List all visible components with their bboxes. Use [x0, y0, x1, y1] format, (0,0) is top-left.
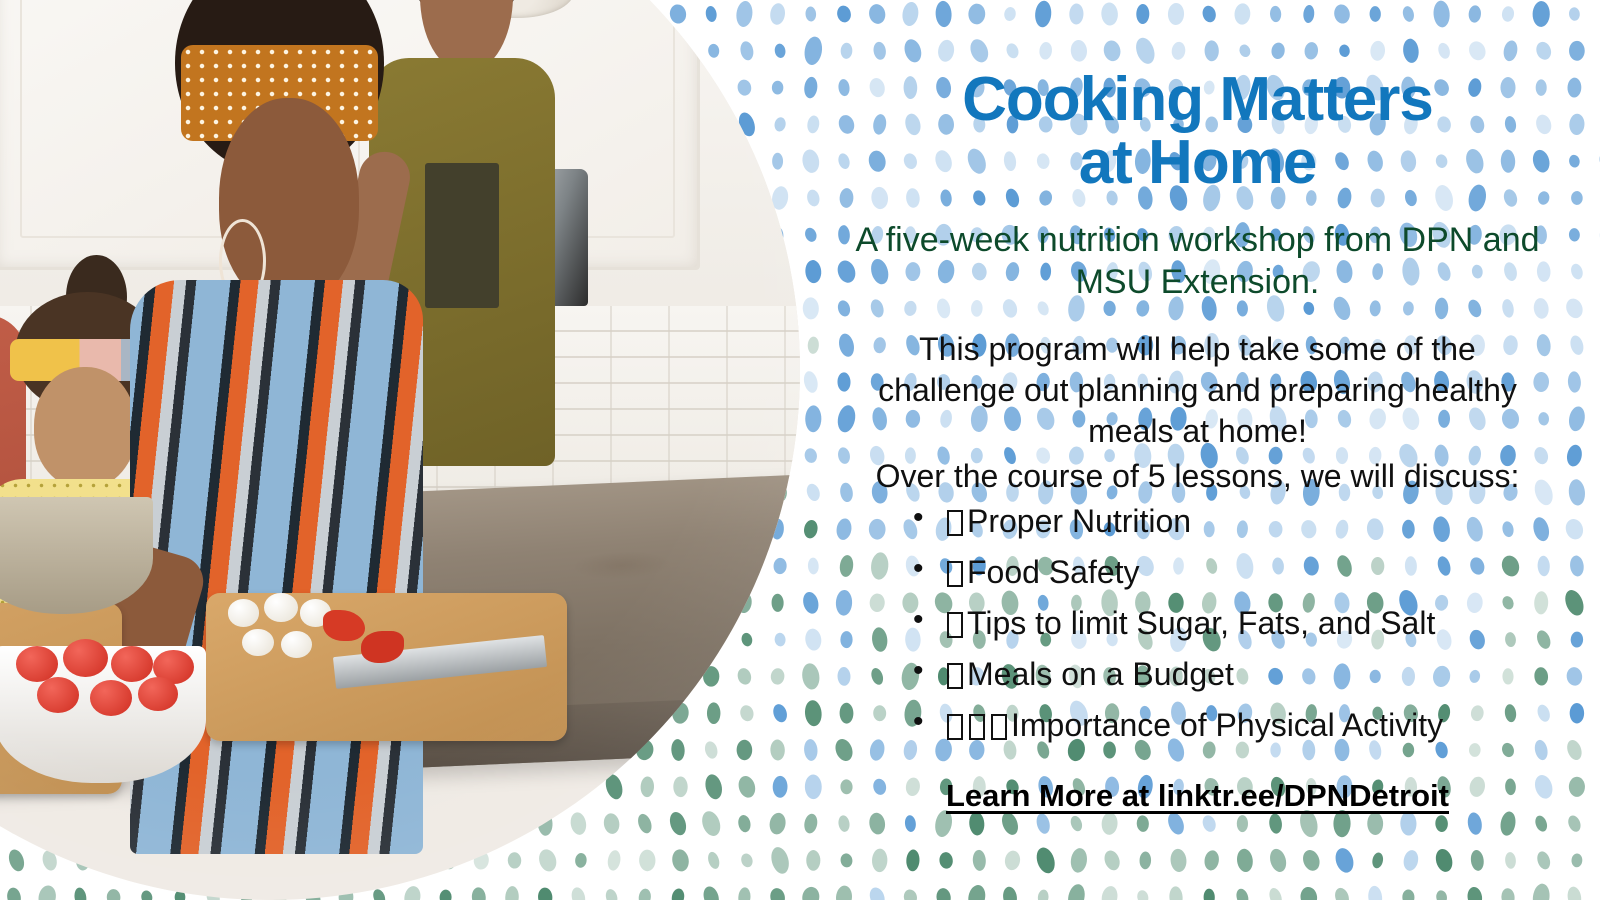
- missing-emoji-glyph-icon: [947, 714, 963, 740]
- list-item: Meals on a Budget: [913, 654, 1578, 695]
- lesson-label: Food Safety: [967, 554, 1140, 590]
- cherry-tomato: [90, 680, 132, 716]
- cherry-tomato: [138, 677, 178, 711]
- list-item: Tips to limit Sugar, Fats, and Salt: [913, 603, 1578, 644]
- cherry-tomato: [111, 646, 153, 682]
- list-item: Importance of Physical Activity: [913, 705, 1578, 746]
- family-cooking-photo: [0, 0, 800, 900]
- cherry-tomato: [63, 639, 108, 677]
- learn-more-link[interactable]: Learn More at linktr.ee/DPNDetroit: [946, 778, 1449, 814]
- lesson-label: Tips to limit Sugar, Fats, and Salt: [967, 605, 1435, 641]
- tomato-slice: [361, 631, 403, 663]
- missing-emoji-glyph-icon: [947, 510, 963, 536]
- title-line-1: Cooking Matters: [817, 68, 1578, 131]
- lesson-label: Meals on a Budget: [967, 656, 1234, 692]
- cherry-tomato: [16, 646, 58, 682]
- mozzarella-ball: [264, 593, 298, 623]
- girl-head: [34, 367, 137, 488]
- missing-emoji-glyph-icon: [947, 561, 963, 587]
- missing-emoji-glyph-icon: [947, 663, 963, 689]
- lesson-label: Proper Nutrition: [967, 503, 1191, 539]
- list-item: Food Safety: [913, 552, 1578, 593]
- title-line-2: at Home: [817, 131, 1578, 194]
- lessons-lead-text: Over the course of 5 lessons, we will di…: [818, 456, 1578, 497]
- lesson-topics-list: Proper NutritionFood SafetyTips to limit…: [817, 501, 1578, 746]
- kitchen-scene: [0, 0, 800, 900]
- missing-emoji-glyph-icon: [991, 714, 1007, 740]
- flyer-canvas: Cooking Matters at Home A five-week nutr…: [0, 0, 1600, 900]
- page-title: Cooking Matters at Home: [817, 0, 1578, 194]
- list-item: Proper Nutrition: [913, 501, 1578, 542]
- description-paragraph: This program will help take some of the …: [868, 329, 1528, 452]
- lesson-label: Importance of Physical Activity: [1011, 707, 1443, 743]
- subtitle: A five-week nutrition workshop from DPN …: [848, 220, 1548, 303]
- missing-emoji-glyph-icon: [969, 714, 985, 740]
- mozzarella-ball: [228, 599, 260, 627]
- content-column: Cooking Matters at Home A five-week nutr…: [795, 0, 1600, 900]
- missing-emoji-glyph-icon: [947, 612, 963, 638]
